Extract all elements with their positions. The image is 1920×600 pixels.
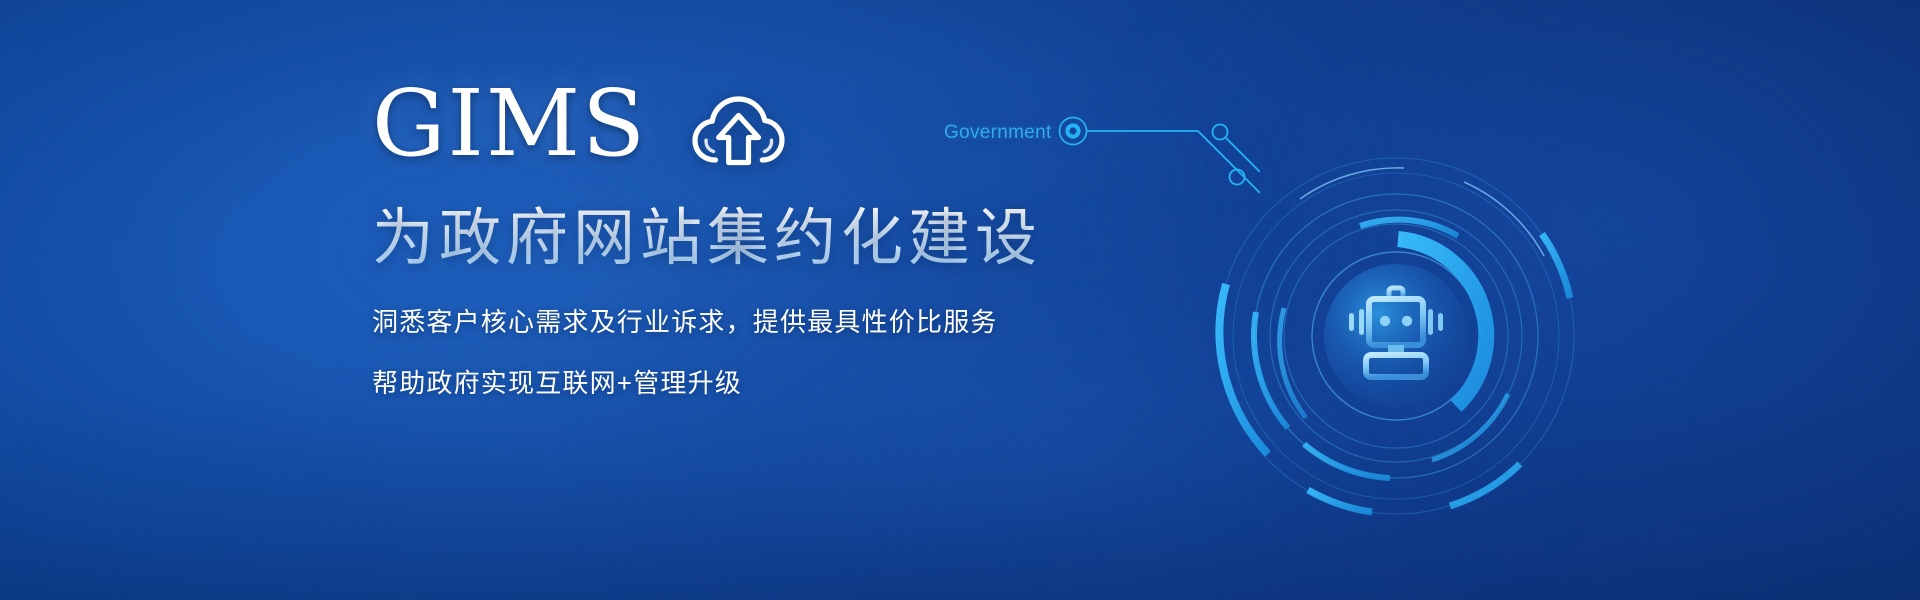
hero-subtitle-line-1: 洞悉客户核心需求及行业诉求，提供最具性价比服务 bbox=[372, 305, 1132, 340]
hud-graphic bbox=[1212, 152, 1580, 520]
hud-arc-right-outer bbox=[1542, 234, 1570, 298]
hero-headline: 为政府网站集约化建设 bbox=[372, 202, 1132, 275]
hud-arc-bottom-right-outer bbox=[1450, 464, 1520, 506]
banner-hero: GIMS 为政府网站集约化建设 洞悉客户核心需求及行业诉求，提供最具性价比服务 … bbox=[0, 0, 1920, 600]
circle-node-dot bbox=[1067, 125, 1078, 136]
hud-arc-left-mid-2 bbox=[1280, 308, 1306, 418]
robot-ear-left-inner bbox=[1359, 309, 1364, 335]
brand-title: GIMS bbox=[372, 78, 647, 170]
robot-ear-right-outer bbox=[1438, 313, 1443, 331]
small-circle-node-icon bbox=[1213, 125, 1228, 140]
robot-ear-left-outer bbox=[1349, 313, 1354, 331]
circle-node-icon bbox=[1060, 118, 1087, 145]
hero-subtitle-line-2: 帮助政府实现互联网+管理升级 bbox=[372, 366, 1132, 401]
robot-eye-right bbox=[1402, 316, 1412, 326]
background-bottom-fade bbox=[0, 396, 1920, 600]
hud-arc-bottom-right-mid bbox=[1432, 394, 1508, 460]
robot-eye-left bbox=[1380, 316, 1390, 326]
cloud-upload-icon bbox=[691, 94, 787, 168]
hud-rings bbox=[1212, 152, 1580, 520]
connector-lines bbox=[930, 100, 1260, 200]
robot-ear-right-inner bbox=[1428, 309, 1433, 335]
hud-arc-bottom-left-outer bbox=[1308, 490, 1372, 512]
government-connector: Government bbox=[930, 100, 1260, 200]
government-label: Government bbox=[944, 122, 1052, 144]
